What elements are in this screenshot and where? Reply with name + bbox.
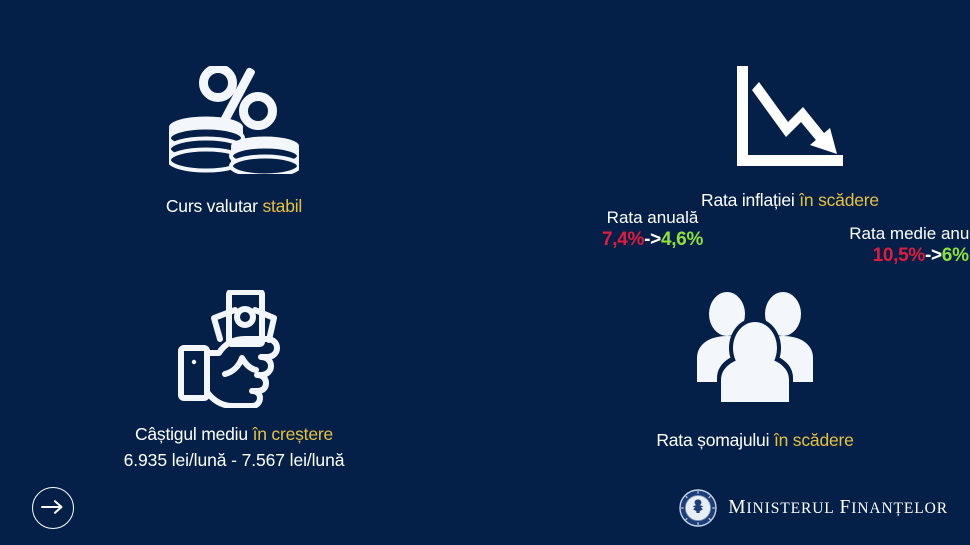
group-of-people-icon xyxy=(615,288,895,408)
romania-government-seal-icon xyxy=(679,489,717,527)
hand-holding-money-icon xyxy=(94,288,374,408)
wage-caption-main: Câștigul mediu xyxy=(135,424,253,444)
brand-name-m: M xyxy=(728,497,746,518)
inflation-average-separator: -> xyxy=(925,245,942,266)
slide-canvas: Curs valutar stabil Rata inflației în sc… xyxy=(0,0,970,545)
inflation-rate-columns: Rata anuală 7,4%->4,6% Rata medie anuală… xyxy=(602,208,962,267)
brand-lockup: MINISTERUL FINANȚELOR xyxy=(679,489,948,527)
brand-name: MINISTERUL FINANȚELOR xyxy=(728,497,948,519)
exchange-rate-caption-highlight: stabil xyxy=(262,196,302,216)
panel-average-wage: Câștigul mediu în creștere 6.935 lei/lun… xyxy=(94,288,374,471)
inflation-rate-average-values: 10,5%->6% xyxy=(849,245,970,267)
panel-inflation: Rata inflației în scădere Rata anuală 7,… xyxy=(640,62,940,211)
inflation-rate-average-annual: Rata medie anuală 10,5%->6% xyxy=(849,224,970,267)
brand-name-f: F xyxy=(839,497,851,518)
inflation-annual-separator: -> xyxy=(644,229,661,250)
unemployment-caption: Rata șomajului în scădere xyxy=(615,430,895,451)
unemployment-caption-main: Rata șomajului xyxy=(656,430,774,450)
inflation-average-from: 10,5% xyxy=(873,245,925,266)
brand-name-ministerul-rest: INISTERUL xyxy=(747,500,835,517)
inflation-rate-average-label: Rata medie anuală xyxy=(849,224,970,244)
arrow-right-icon xyxy=(41,499,65,518)
unemployment-caption-highlight: în scădere xyxy=(774,430,854,450)
inflation-annual-to: 4,6% xyxy=(661,229,703,250)
panel-exchange-rate: Curs valutar stabil xyxy=(94,64,374,217)
exchange-rate-caption: Curs valutar stabil xyxy=(94,196,374,217)
brand-name-finantelor-rest: INANȚELOR xyxy=(851,500,948,517)
wage-range-value: 6.935 lei/lună - 7.567 lei/lună xyxy=(94,450,374,471)
inflation-annual-from: 7,4% xyxy=(602,229,644,250)
declining-chart-icon xyxy=(640,62,940,172)
inflation-rate-annual-values: 7,4%->4,6% xyxy=(602,229,703,251)
panel-unemployment: Rata șomajului în scădere xyxy=(615,288,895,451)
inflation-average-to: 6% xyxy=(942,245,969,266)
inflation-caption-highlight: în scădere xyxy=(799,190,879,210)
coins-percent-icon xyxy=(94,64,374,174)
inflation-rate-annual: Rata anuală 7,4%->4,6% xyxy=(602,208,703,267)
wage-caption-highlight: în creștere xyxy=(253,424,333,444)
exchange-rate-caption-main: Curs valutar xyxy=(166,196,263,216)
inflation-caption-main: Rata inflației xyxy=(701,190,799,210)
wage-caption: Câștigul mediu în creștere xyxy=(94,424,374,445)
inflation-rate-annual-label: Rata anuală xyxy=(602,208,703,228)
next-slide-button[interactable] xyxy=(32,487,74,529)
